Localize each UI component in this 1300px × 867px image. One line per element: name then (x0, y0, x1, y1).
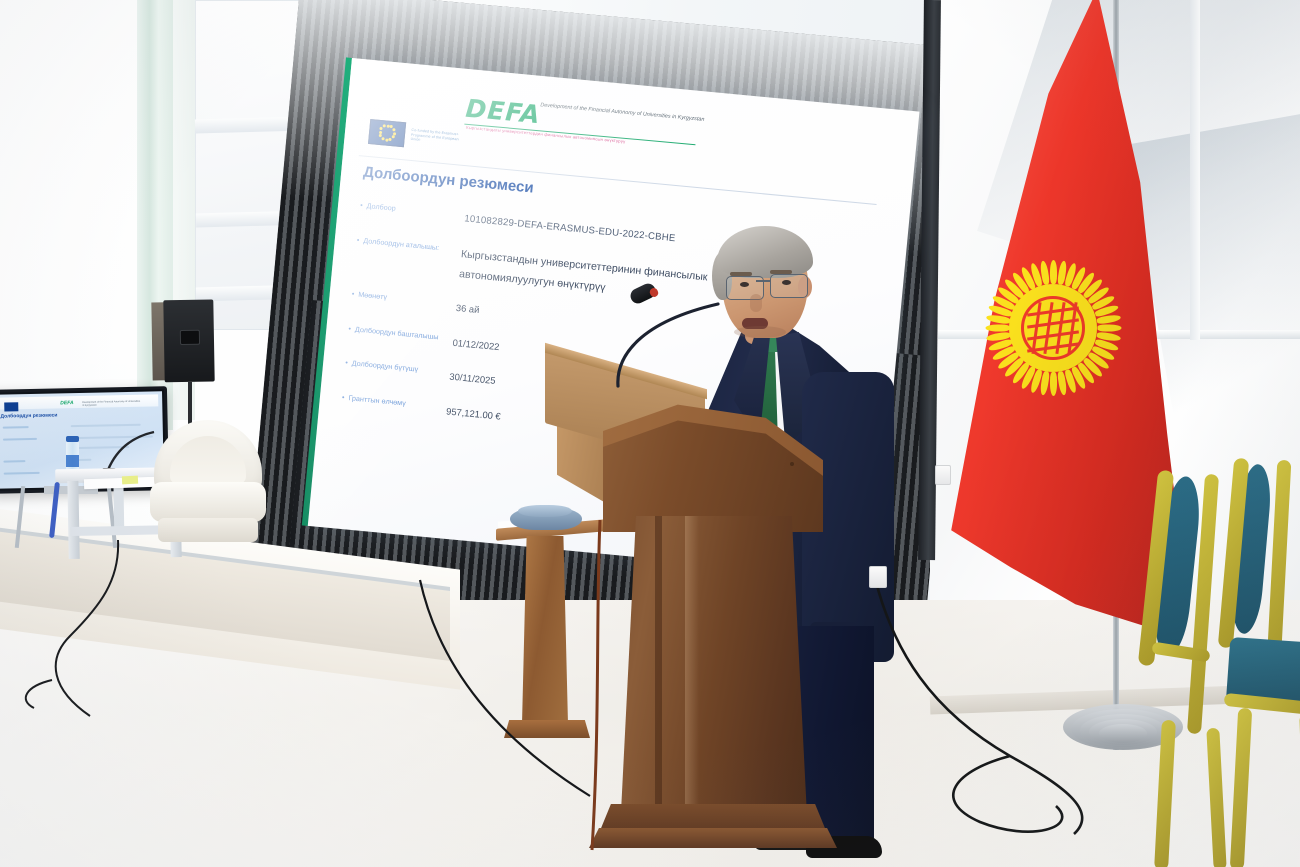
hall-chairs (1150, 470, 1300, 867)
chair-leg (1206, 728, 1226, 867)
power-outlet[interactable] (869, 566, 887, 588)
monitor-row-label (4, 472, 40, 475)
flag-base-ring (1099, 724, 1147, 743)
monitor-row-label (3, 460, 25, 462)
sticky-note (122, 476, 138, 485)
lectern-microphone-icon (610, 300, 730, 390)
monitor-row-label (3, 438, 37, 441)
monitor-slide-header: DEFA Development of the Financial Autono… (0, 394, 158, 409)
lectern-column-highlight (685, 516, 699, 816)
armchair-base (158, 518, 258, 542)
stand-leg (15, 486, 25, 548)
eye (782, 280, 791, 285)
nose (750, 294, 762, 312)
lectern-screw (790, 462, 794, 466)
monitor-slide-title: Долбоордун резюмеси (0, 412, 57, 419)
loudspeaker (151, 299, 214, 382)
floor-cables (300, 520, 660, 860)
chair-leg (1154, 720, 1176, 867)
monitor-defa-wordmark: DEFA (60, 400, 73, 406)
hair (717, 226, 813, 278)
armchair-seat (150, 482, 266, 522)
speaker-port-icon (180, 330, 200, 345)
chin-shadow (734, 326, 786, 338)
chair2-frame-right (1267, 460, 1292, 666)
bottle-cap (66, 436, 79, 442)
stage-cables (0, 540, 260, 740)
glasses-bridge (756, 280, 770, 282)
chair2-leg (1230, 708, 1252, 867)
bottle-label (66, 455, 79, 467)
monitor-defa-tagline: Development of the Financial Autonomy of… (82, 400, 142, 407)
monitor-eu-flag-icon (4, 402, 18, 411)
eye (740, 282, 749, 287)
monitor-row-label (3, 426, 29, 429)
conference-hall-photo: Co-funded by the Erasmus+ Programme of t… (0, 0, 1300, 867)
lens-right (770, 274, 808, 298)
monitor-row-value (71, 424, 141, 427)
armchair (150, 420, 266, 548)
eyeglasses-icon (720, 272, 812, 298)
